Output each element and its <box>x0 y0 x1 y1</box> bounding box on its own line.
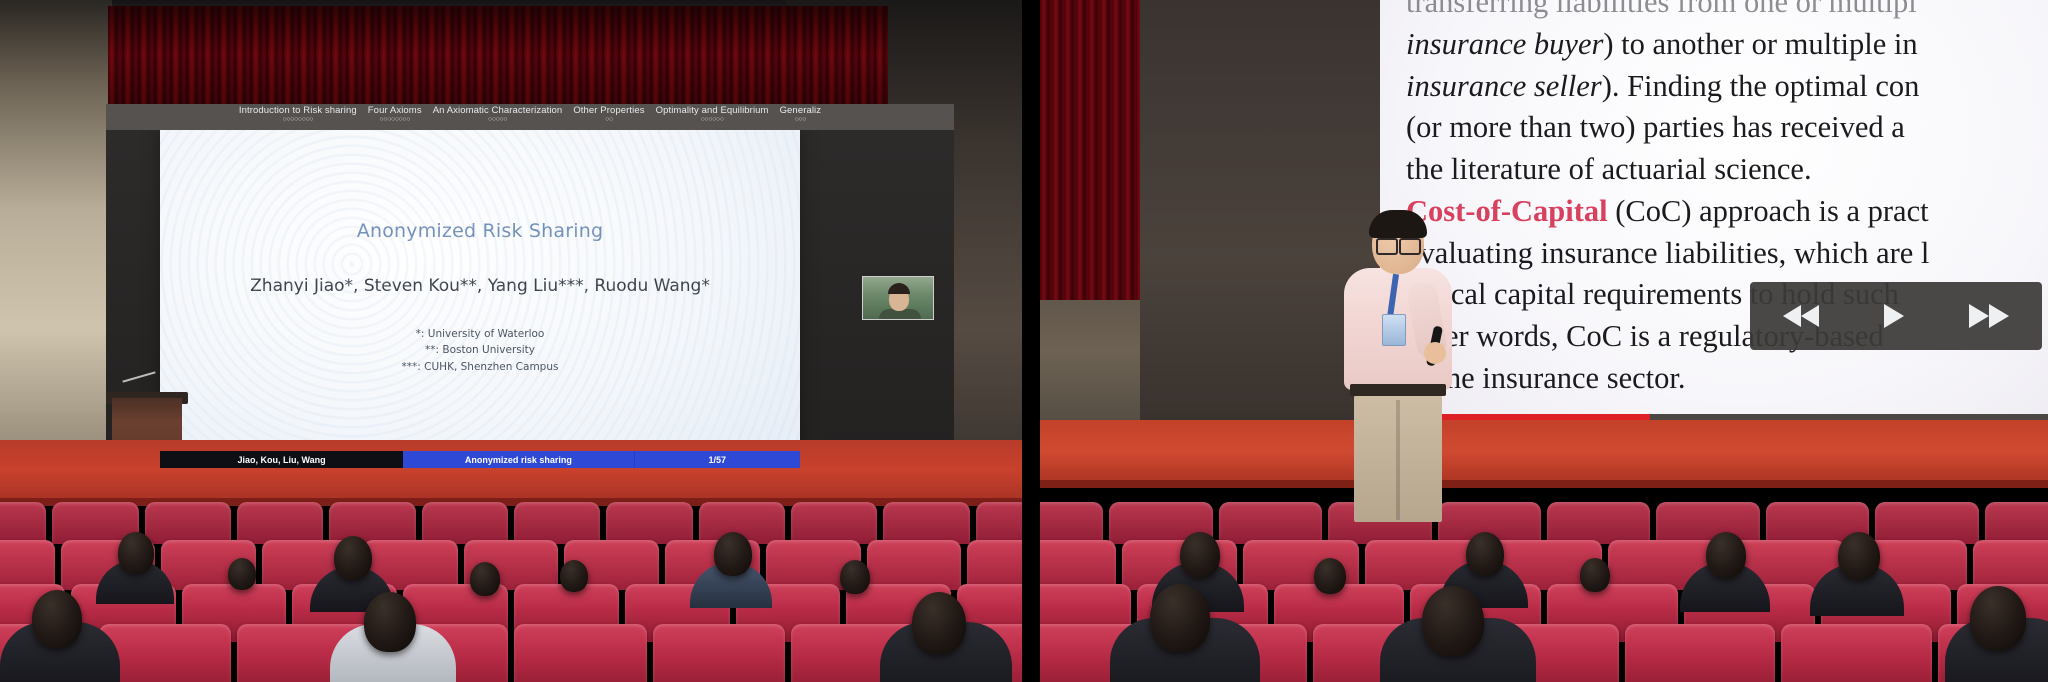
slide-line: evaluating insurance liabilities, which … <box>1406 233 2048 275</box>
seat-row <box>0 502 1022 544</box>
seat <box>867 540 962 590</box>
seat-row <box>0 624 1022 682</box>
audience-head <box>364 592 416 652</box>
seat <box>1781 624 1931 682</box>
speaker-glasses <box>1376 238 1421 251</box>
photo-divider <box>1022 0 1040 682</box>
seat <box>653 624 786 682</box>
nav-section-label: Four Axioms <box>368 106 422 116</box>
seat <box>967 540 1022 590</box>
slide-line-italic: insurance buyer <box>1406 27 1603 61</box>
seat <box>883 502 969 544</box>
seat <box>791 502 877 544</box>
slide-line: (or more than two) parties has received … <box>1406 107 2048 149</box>
seat <box>606 502 692 544</box>
highlight-term: Cost-of-Capital <box>1406 194 1608 228</box>
audience-seating <box>1040 487 2048 682</box>
footer-page-number: 1/57 <box>634 451 800 468</box>
audience-head <box>912 592 966 654</box>
seat <box>976 502 1022 544</box>
speaker-hair <box>1369 210 1427 238</box>
nav-section-label: Generaliz <box>780 106 822 116</box>
nav-section-axiomatic-characterization[interactable]: An Axiomatic Characterization ○○○○○ <box>433 106 563 123</box>
audience-head <box>1466 532 1504 576</box>
footer-authors: Jiao, Kou, Liu, Wang <box>160 451 403 468</box>
seat <box>237 502 323 544</box>
projected-slide: Anonymized Risk Sharing Zhanyi Jiao*, St… <box>160 128 800 468</box>
rewind-icon <box>1801 305 1819 327</box>
play-button[interactable] <box>1884 304 1904 328</box>
slide-navigation-bar: Introduction to Risk sharing ○○○○○○○○ Fo… <box>106 104 954 130</box>
seat <box>0 540 55 590</box>
seat <box>1040 502 1103 544</box>
slide-line: the literature of actuarial science. <box>1406 149 2048 191</box>
audience-head <box>1970 586 2026 650</box>
fast-forward-icon <box>1969 304 1989 328</box>
nav-section-generalization[interactable]: Generaliz ○○○ <box>780 106 822 123</box>
speaker-badge <box>1382 314 1406 346</box>
nav-section-dots: ○○○○○○ <box>656 116 769 123</box>
affiliation-line: *: University of Waterloo <box>160 326 800 342</box>
wide-auditorium-photo: Introduction to Risk sharing ○○○○○○○○ Fo… <box>0 0 1022 682</box>
audience-head <box>560 560 588 592</box>
webcam-person-hair <box>888 283 910 294</box>
nav-section-optimality-equilibrium[interactable]: Optimality and Equilibrium ○○○○○○ <box>656 106 769 123</box>
seat <box>1040 540 1116 590</box>
nav-section-label: Introduction to Risk sharing <box>239 106 357 116</box>
nav-section-label: Optimality and Equilibrium <box>656 106 769 116</box>
slide-title: Anonymized Risk Sharing <box>160 220 800 242</box>
play-icon <box>1884 304 1904 328</box>
affiliation-line: **: Boston University <box>160 342 800 358</box>
seat <box>1973 540 2048 590</box>
audience-head <box>714 532 752 576</box>
slide-authors: Zhanyi Jiao*, Steven Kou**, Yang Liu***,… <box>160 276 800 296</box>
nav-section-label: Other Properties <box>573 106 644 116</box>
speaker-closeup-photo: transferring liabilities from one or mul… <box>1040 0 2048 682</box>
audience-head <box>840 560 870 594</box>
nav-section-dots: ○○○○○ <box>433 116 563 123</box>
nav-section-other-properties[interactable]: Other Properties ○○ <box>573 106 644 123</box>
slide-affiliations: *: University of Waterloo **: Boston Uni… <box>160 326 800 375</box>
right-projection-screen: transferring liabilities from one or mul… <box>1380 0 2048 448</box>
nav-section-dots: ○○○ <box>780 116 822 123</box>
left-wall <box>0 0 112 470</box>
nav-section-four-axioms[interactable]: Four Axioms ○○○○○○○○ <box>368 106 422 123</box>
audience-head <box>32 590 82 648</box>
slide-line: insurance buyer) to another or multiple … <box>1406 24 2048 66</box>
audience-head <box>1838 532 1880 580</box>
fast-forward-icon <box>1989 304 2009 328</box>
seat <box>1547 502 1650 544</box>
slide-line-highlighted: Cost-of-Capital (CoC) approach is a prac… <box>1406 191 2048 233</box>
nav-section-label: An Axiomatic Characterization <box>433 106 563 116</box>
seat <box>329 502 415 544</box>
webcam-thumbnail[interactable] <box>862 276 934 320</box>
audience-head <box>1150 584 1210 652</box>
seat <box>1219 502 1322 544</box>
nav-section-dots: ○○ <box>573 116 644 123</box>
nav-section-dots: ○○○○○○○○ <box>239 116 357 123</box>
fast-forward-button[interactable] <box>1969 304 2009 328</box>
seat <box>0 502 46 544</box>
seat <box>514 502 600 544</box>
rewind-button[interactable] <box>1783 305 1819 327</box>
audience-head <box>1580 558 1610 592</box>
seat <box>1656 502 1759 544</box>
affiliation-line: ***: CUHK, Shenzhen Campus <box>160 359 800 375</box>
speaker-hand <box>1424 342 1446 364</box>
seat <box>1985 502 2048 544</box>
audience-head <box>1180 532 1220 578</box>
stage-floor <box>1040 420 2048 482</box>
audience-head <box>334 536 372 580</box>
media-player-controls[interactable] <box>1750 282 2042 350</box>
audience-head <box>1706 532 1746 578</box>
seat <box>1875 502 1978 544</box>
seat <box>145 502 231 544</box>
slide-line: in the insurance sector. <box>1406 358 2048 400</box>
audience-head <box>228 558 256 590</box>
slide-footer-bar: Jiao, Kou, Liu, Wang Anonymized risk sha… <box>160 451 800 468</box>
nav-section-intro[interactable]: Introduction to Risk sharing ○○○○○○○○ <box>239 106 357 123</box>
nav-section-dots: ○○○○○○○○ <box>368 116 422 123</box>
audience-head <box>1314 558 1346 594</box>
slide-line: transferring liabilities from one or mul… <box>1406 0 2048 24</box>
seat <box>422 502 508 544</box>
speaker-belt <box>1350 384 1446 396</box>
screenshot-root: Introduction to Risk sharing ○○○○○○○○ Fo… <box>0 0 2048 682</box>
slide-line-italic: insurance seller <box>1406 69 1602 103</box>
slide-line: insurance seller). Finding the optimal c… <box>1406 66 2048 108</box>
rewind-icon <box>1783 305 1801 327</box>
seat <box>514 624 647 682</box>
footer-talk-title: Anonymized risk sharing <box>403 451 633 468</box>
audience-seating <box>0 487 1022 682</box>
audience-head <box>1422 586 1484 656</box>
speaker-legs <box>1354 394 1442 522</box>
audience-head <box>118 532 154 574</box>
seat <box>1625 624 1775 682</box>
audience-head <box>470 562 500 596</box>
